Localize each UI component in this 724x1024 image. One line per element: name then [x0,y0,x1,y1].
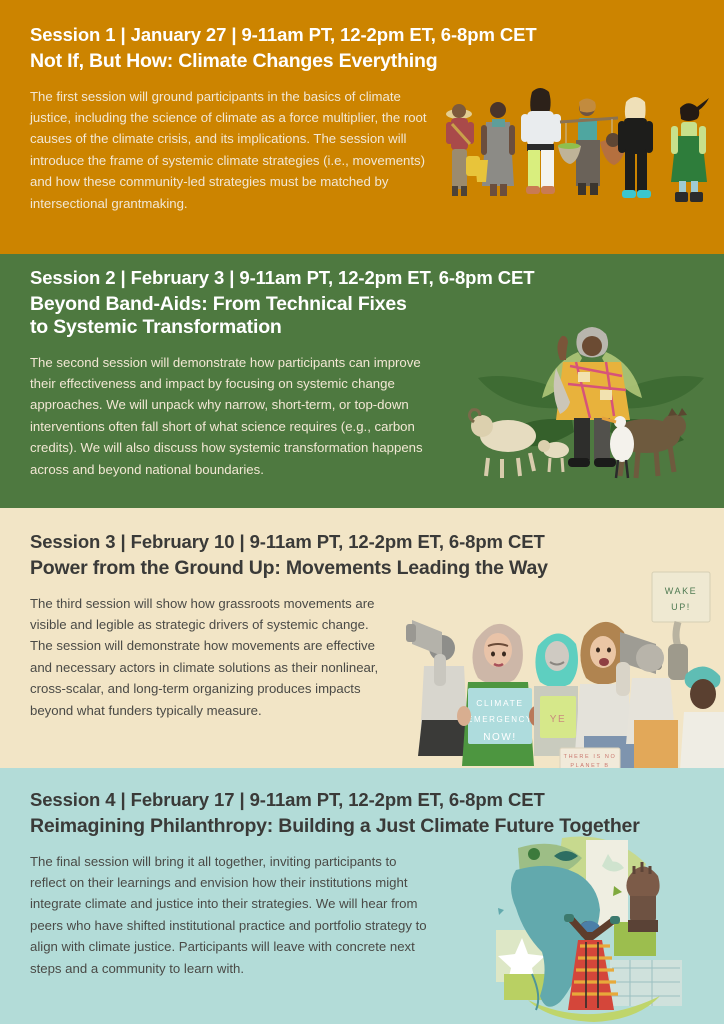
session-2-title-line-1: Beyond Band-Aids: From Technical Fixes [30,293,407,315]
session-2-meta: Session 2 | February 3 | 9-11am PT, 12-2… [30,268,694,289]
session-3-meta: Session 3 | February 10 | 9-11am PT, 12-… [30,532,694,553]
session-2-content: Session 2 | February 3 | 9-11am PT, 12-2… [0,254,724,480]
session-2-body: The second session will demonstrate how … [30,352,428,480]
sessions-page: Session 1 | January 27 | 9-11am PT, 12-2… [0,0,724,1024]
session-3-panel: WAKE UP! [0,508,724,768]
session-4-body: The final session will bring it all toge… [30,851,436,979]
session-2-panel: Session 2 | February 3 | 9-11am PT, 12-2… [0,254,724,508]
session-4-meta: Session 4 | February 17 | 9-11am PT, 12-… [30,790,694,811]
session-1-title: Not If, But How: Climate Changes Everyth… [30,50,694,73]
session-1-content: Session 1 | January 27 | 9-11am PT, 12-2… [0,0,724,214]
svg-text:NOW!: NOW! [483,732,517,743]
session-1-body: The first session will ground participan… [30,86,428,214]
session-2-title: Beyond Band-Aids: From Technical Fixes t… [30,293,694,339]
session-4-content: Session 4 | February 17 | 9-11am PT, 12-… [0,768,724,979]
session-1-meta: Session 1 | January 27 | 9-11am PT, 12-2… [30,25,694,46]
session-3-title: Power from the Ground Up: Movements Lead… [30,557,694,580]
there-is-no-planet-b-sign: THERE IS NO PLANET B [560,748,620,768]
session-4-panel: Session 4 | February 17 | 9-11am PT, 12-… [0,768,724,1024]
session-2-title-line-2: to Systemic Transformation [30,316,282,338]
session-4-title: Reimagining Philanthropy: Building a Jus… [30,815,694,838]
session-1-panel: Session 1 | January 27 | 9-11am PT, 12-2… [0,0,724,254]
svg-text:THERE IS NO: THERE IS NO [564,754,617,760]
session-3-body: The third session will show how grassroo… [30,593,382,721]
session-3-content: Session 3 | February 10 | 9-11am PT, 12-… [0,508,724,721]
